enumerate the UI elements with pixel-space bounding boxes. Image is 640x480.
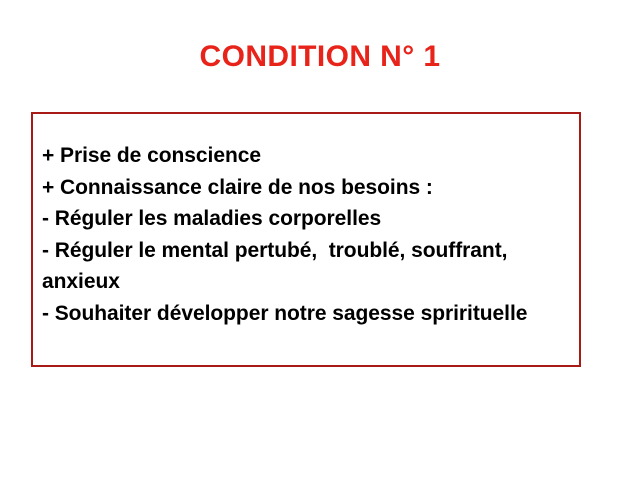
content-box: + Prise de conscience + Connaissance cla… <box>31 112 581 367</box>
list-item: - Réguler les maladies corporelles <box>42 203 569 235</box>
list-item: - Souhaiter développer notre sagesse spr… <box>42 298 569 330</box>
slide-canvas: CONDITION N° 1 + Prise de conscience + C… <box>0 0 640 480</box>
page-title: CONDITION N° 1 <box>0 40 640 74</box>
list-item: + Connaissance claire de nos besoins : <box>42 172 569 204</box>
list-item: - Réguler le mental pertubé, troublé, so… <box>42 235 569 298</box>
list-item: + Prise de conscience <box>42 140 569 172</box>
